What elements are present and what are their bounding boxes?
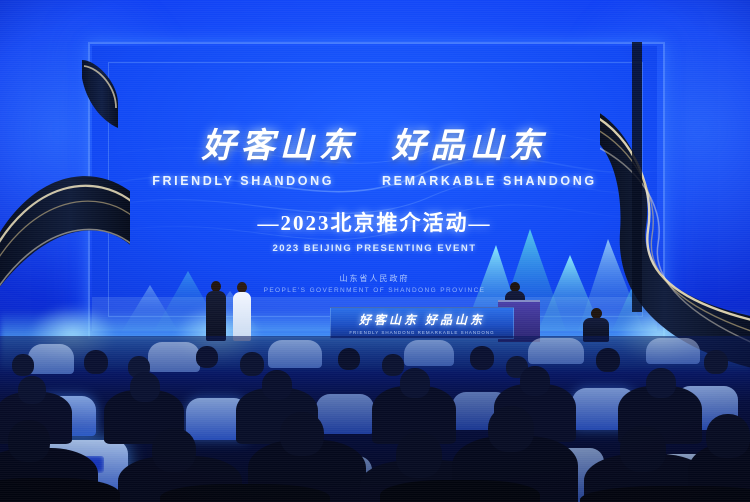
podium-banner-cn: 好客山东 好品山东 xyxy=(359,311,485,328)
audience-foreground xyxy=(160,484,330,502)
chair-cover xyxy=(404,340,454,366)
main-subtitle-row: FRIENDLY SHANDONG REMARKABLE SHANDONG xyxy=(92,174,657,188)
podium-banner-en: FRIENDLY SHANDONG REMARKABLE SHANDONG xyxy=(349,330,494,335)
audience-head xyxy=(596,348,620,372)
chair-cover xyxy=(148,342,200,372)
audience-head xyxy=(400,368,430,398)
subtitle-friendly-shandong-en: FRIENDLY SHANDONG xyxy=(152,174,334,188)
audience-head xyxy=(488,406,534,452)
audience-area xyxy=(0,336,750,502)
audience-head xyxy=(18,376,46,404)
subtitle-remarkable-shandong-en: REMARKABLE SHANDONG xyxy=(382,174,597,188)
main-title-row: 好客山东 好品山东 xyxy=(92,118,657,167)
organizer-en: PEOPLE'S GOVERNMENT OF SHANDONG PROVINCE xyxy=(92,287,657,294)
audience-head xyxy=(646,368,676,398)
audience-head xyxy=(196,346,218,368)
screen-text-block: 好客山东 好品山东 FRIENDLY SHANDONG REMARKABLE S… xyxy=(92,118,657,294)
chair-cover xyxy=(28,344,74,374)
audience-foreground xyxy=(0,478,120,502)
audience-head xyxy=(338,348,360,370)
audience-head xyxy=(382,354,404,376)
audience-head xyxy=(12,354,34,376)
event-stage-photo: 好客山东 好品山东 FRIENDLY SHANDONG REMARKABLE S… xyxy=(0,0,750,502)
audience-head xyxy=(130,372,160,402)
title-friendly-shandong-cn: 好客山东 xyxy=(202,118,358,167)
audience-foreground xyxy=(380,480,540,502)
audience-head xyxy=(396,432,442,478)
title-remarkable-shandong-cn: 好品山东 xyxy=(392,118,548,167)
audience-head xyxy=(84,350,108,374)
audience-head xyxy=(240,352,264,376)
podium-banner: 好客山东 好品山东 FRIENDLY SHANDONG REMARKABLE S… xyxy=(330,307,514,339)
audience-head xyxy=(262,370,292,400)
chair-cover xyxy=(528,338,584,364)
audience-head xyxy=(470,346,494,370)
chair-cover xyxy=(646,338,700,364)
chair-cover xyxy=(316,394,374,434)
audience-head xyxy=(706,414,750,458)
audience-head xyxy=(520,366,550,396)
audience-head xyxy=(8,420,50,462)
audience-head xyxy=(152,428,196,472)
chair-cover xyxy=(268,340,322,368)
stage-person-host-male xyxy=(205,281,227,341)
audience-head xyxy=(704,350,728,374)
organizer-cn: 山东省人民政府 xyxy=(92,273,657,284)
event-line-cn: —2023北京推介活动— xyxy=(92,207,657,237)
audience-head xyxy=(280,412,324,456)
audience-head xyxy=(620,426,666,472)
event-line-en: 2023 BEIJING PRESENTING EVENT xyxy=(92,243,657,254)
stage-person-host-female xyxy=(231,282,253,341)
